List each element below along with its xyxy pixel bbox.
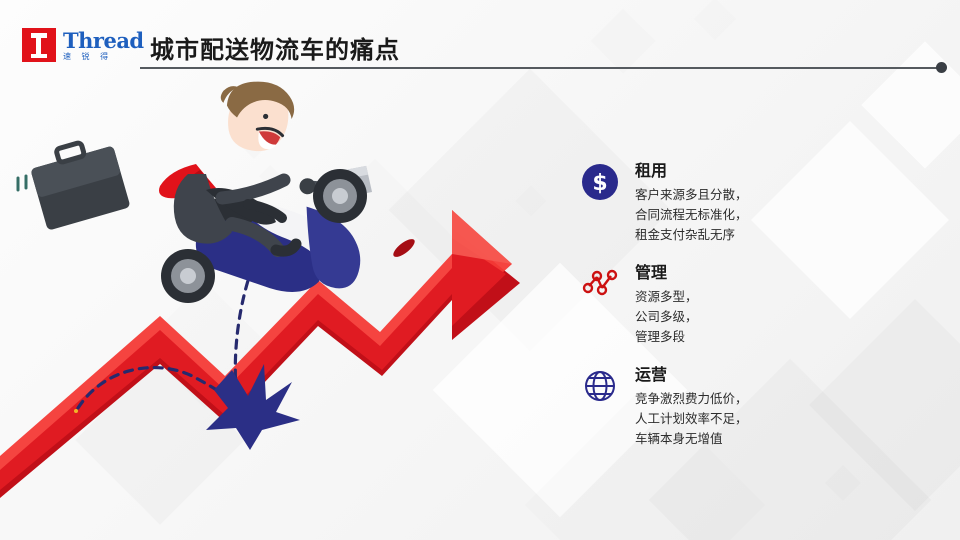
- list-item-line: 管理多段: [635, 327, 920, 347]
- list-item-title: 租用: [635, 160, 920, 182]
- scooter-rider-figure: [159, 78, 384, 308]
- list-item-title: 管理: [635, 262, 920, 284]
- list-item-line: 公司多级，: [635, 307, 920, 327]
- list-item: $ 租用 客户来源多且分散， 合同流程无标准化， 租金支付杂乱无序: [580, 160, 920, 256]
- list-item-lines: 资源多型， 公司多级， 管理多段: [635, 287, 920, 348]
- diamond-shape: [825, 465, 862, 502]
- list-item-lines: 竞争激烈费力低价， 人工计划效率不足， 车辆本身无增值: [635, 389, 920, 450]
- logo-mark-icon: [22, 28, 56, 62]
- list-item-title: 运营: [635, 364, 920, 386]
- scooter-wheel: [161, 249, 215, 303]
- list-item: 运营 竞争激烈费力低价， 人工计划效率不足， 车辆本身无增值: [580, 364, 920, 460]
- slide-header: Thread 速 锐 得 城市配送物流车的痛点: [0, 0, 960, 86]
- logo-word: Thread: [63, 30, 144, 51]
- list-item-line: 车辆本身无增值: [635, 429, 920, 449]
- title-divider: [140, 67, 940, 69]
- slide-canvas: Thread 速 锐 得 城市配送物流车的痛点: [0, 0, 960, 540]
- pain-points-list: $ 租用 客户来源多且分散， 合同流程无标准化， 租金支付杂乱无序: [580, 160, 920, 466]
- list-item-line: 资源多型，: [635, 287, 920, 307]
- list-item: 管理 资源多型， 公司多级， 管理多段: [580, 262, 920, 358]
- network-nodes-icon: [580, 264, 620, 304]
- list-item-line: 租金支付杂乱无序: [635, 225, 920, 245]
- list-item-line: 竞争激烈费力低价，: [635, 389, 920, 409]
- page-title: 城市配送物流车的痛点: [150, 30, 400, 65]
- list-item-line: 人工计划效率不足，: [635, 409, 920, 429]
- globe-icon: [580, 366, 620, 406]
- hero-illustration: [0, 78, 520, 498]
- list-item-line: 合同流程无标准化，: [635, 205, 920, 225]
- logo-wordmark: Thread 速 锐 得: [63, 30, 144, 61]
- brand-logo: Thread 速 锐 得: [22, 28, 144, 62]
- briefcase-icon: [27, 134, 131, 231]
- list-item-lines: 客户来源多且分散， 合同流程无标准化， 租金支付杂乱无序: [635, 185, 920, 246]
- dollar-circle-icon: $: [580, 162, 620, 202]
- scooter-wheel: [313, 169, 367, 223]
- title-end-dot-icon: [936, 62, 947, 73]
- logo-subtitle: 速 锐 得: [63, 53, 144, 61]
- svg-text:$: $: [592, 171, 607, 196]
- diamond-shape: [515, 185, 546, 216]
- list-item-line: 客户来源多且分散，: [635, 185, 920, 205]
